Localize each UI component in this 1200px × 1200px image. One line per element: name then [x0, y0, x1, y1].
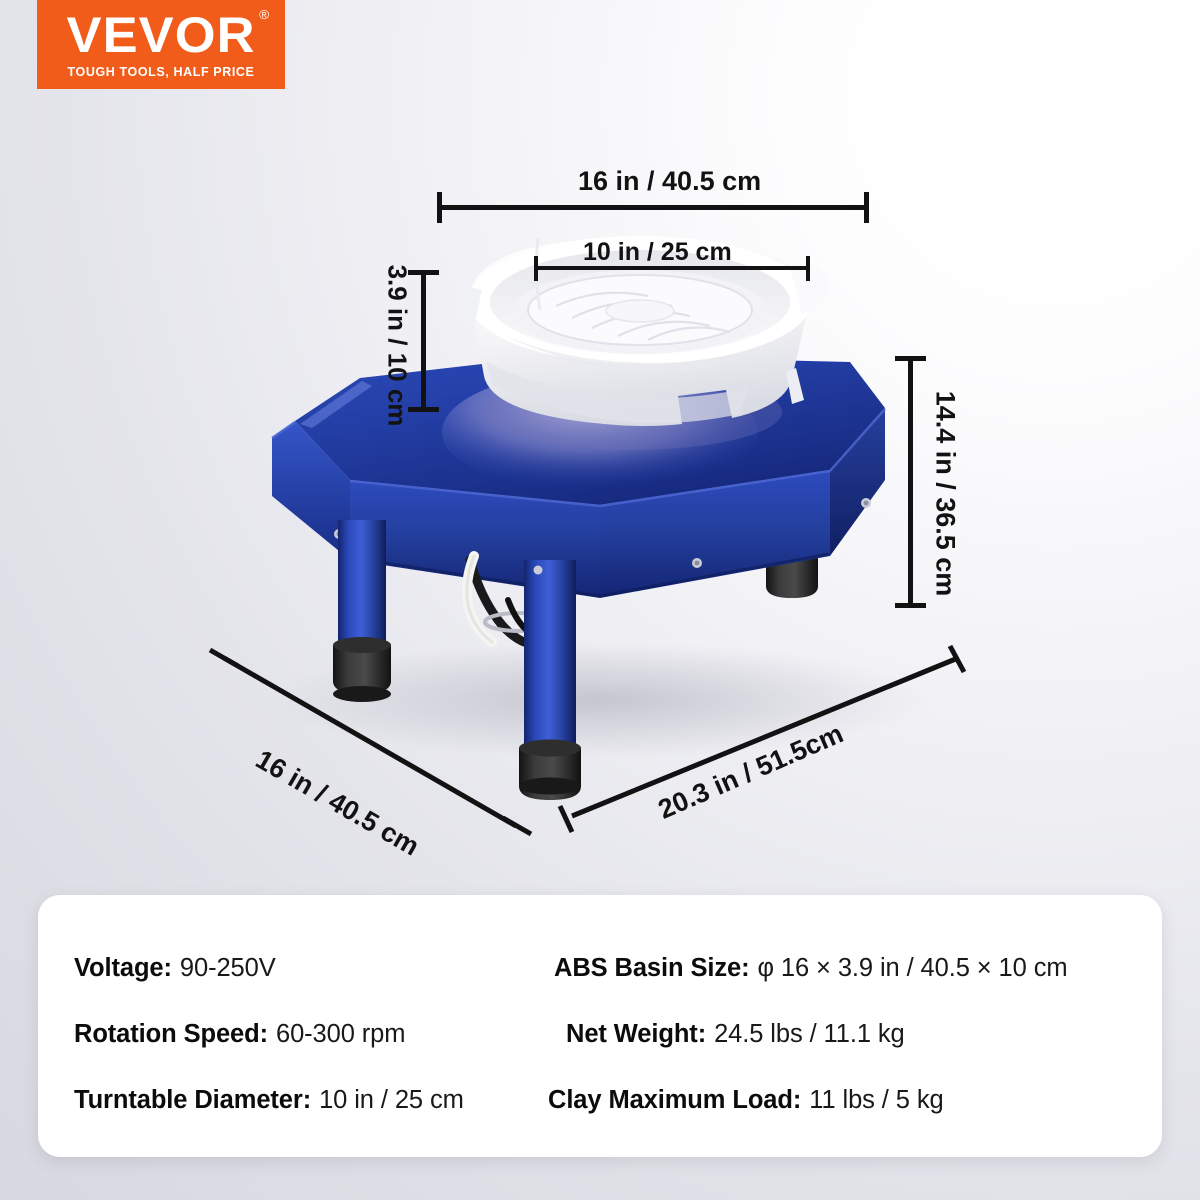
leg-front-center: [519, 560, 581, 800]
dimension-label-overall-height: 14.4 in / 36.5 cm: [929, 391, 960, 597]
spec-label-net-weight: Net Weight:: [566, 1020, 706, 1049]
spec-row-turntable-diameter: Turntable Diameter: 10 in / 25 cm: [74, 1067, 536, 1133]
spec-value-clay-maximum-load: 11 lbs / 5 kg: [809, 1086, 943, 1115]
product-spec-page: VEVOR ® TOUGH TOOLS, HALF PRICE: [0, 0, 1200, 1200]
spec-value-turntable-diameter: 10 in / 25 cm: [319, 1086, 464, 1115]
spec-value-abs-basin-size: φ 16 × 3.9 in / 40.5 × 10 cm: [757, 954, 1067, 983]
spec-label-voltage: Voltage:: [74, 954, 172, 983]
spec-value-rotation-speed: 60-300 rpm: [276, 1020, 405, 1049]
specifications-card: Voltage: 90-250V Rotation Speed: 60-300 …: [38, 895, 1162, 1157]
dimension-label-turntable-diameter: 10 in / 25 cm: [583, 238, 732, 267]
spec-label-abs-basin-size: ABS Basin Size:: [554, 954, 749, 983]
spec-label-clay-maximum-load: Clay Maximum Load:: [548, 1086, 801, 1115]
spec-column-right: ABS Basin Size: φ 16 × 3.9 in / 40.5 × 1…: [536, 895, 1156, 1157]
spec-row-clay-maximum-load: Clay Maximum Load: 11 lbs / 5 kg: [542, 1067, 1156, 1133]
pottery-wheel-drawing: [0, 0, 1200, 880]
spec-value-net-weight: 24.5 lbs / 11.1 kg: [714, 1020, 905, 1049]
product-illustration: 16 in / 40.5 cm 10 in / 25 cm 3.9 in / 1…: [0, 0, 1200, 880]
spec-row-rotation-speed: Rotation Speed: 60-300 rpm: [74, 1001, 536, 1067]
leg-front-left: [333, 520, 391, 702]
spec-row-voltage: Voltage: 90-250V: [74, 935, 536, 1001]
spec-row-abs-basin-size: ABS Basin Size: φ 16 × 3.9 in / 40.5 × 1…: [542, 935, 1156, 1001]
spec-column-left: Voltage: 90-250V Rotation Speed: 60-300 …: [38, 895, 536, 1157]
spec-label-turntable-diameter: Turntable Diameter:: [74, 1086, 311, 1115]
spec-row-net-weight: Net Weight: 24.5 lbs / 11.1 kg: [542, 1001, 1156, 1067]
spec-label-rotation-speed: Rotation Speed:: [74, 1020, 268, 1049]
dimension-label-basin-width: 16 in / 40.5 cm: [578, 166, 761, 197]
dimension-label-basin-depth: 3.9 in / 10 cm: [381, 265, 412, 427]
spec-value-voltage: 90-250V: [180, 954, 276, 983]
